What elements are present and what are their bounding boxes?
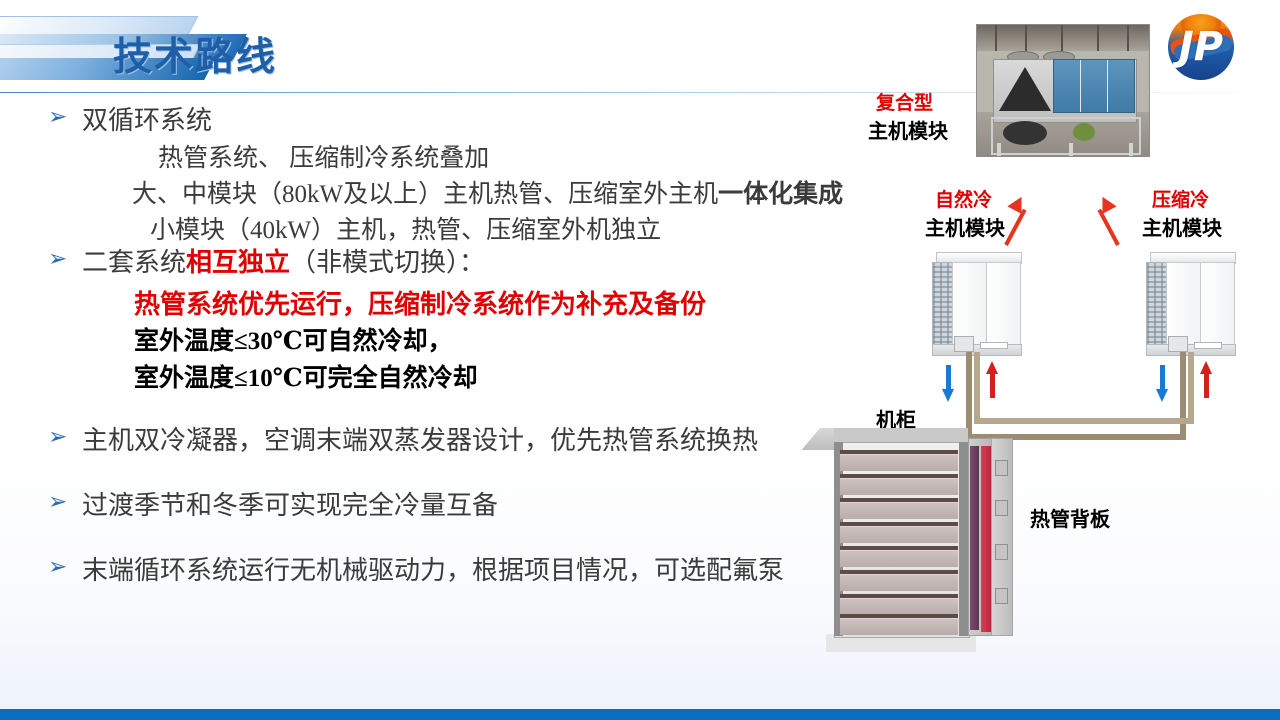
bullet-1-line-2-emphasis: 一体化集成 (718, 181, 843, 208)
bullet-arrow-icon: ➢ (48, 556, 82, 579)
bullet-item-4: ➢ 过渡季节和冬季可实现完全冷量互备 (48, 491, 498, 521)
bullet-4-head: 过渡季节和冬季可实现完全冷量互备 (82, 491, 498, 521)
bullet-1-head: 双循环系统 (82, 106, 212, 136)
bullet-2-line-3: 室外温度≤10℃可完全自然冷却 (134, 358, 478, 394)
label-composite-black: 主机模块 (868, 115, 948, 144)
bullet-item-2: ➢ 二套系统相互独立（非模式切换）： (48, 248, 485, 278)
label-free-cooling-black: 主机模块 (925, 212, 1005, 241)
heatpipe-panel-purple (970, 446, 979, 630)
return-arrow-right-head (1200, 361, 1212, 374)
bullet-5-head: 末端循环系统运行无机械驱动力，根据项目情况，可选配氟泵 (82, 556, 784, 586)
heatpipe-panel-red (981, 446, 991, 632)
pipe-left-a (966, 352, 972, 440)
bullet-1-line-3: 小模块（40kW）主机，热管、压缩室外机独立 (150, 210, 661, 246)
return-arrow-left-head (986, 361, 998, 374)
page-title: 技术路线 (113, 26, 277, 82)
composite-chiller-photo (976, 24, 1150, 157)
link-arrow-right-stem (1097, 209, 1119, 246)
pipe-left-b (974, 352, 980, 424)
bullet-arrow-icon: ➢ (48, 426, 82, 449)
supply-arrow-right-stem (1160, 365, 1165, 391)
company-logo-icon: JP (1168, 14, 1234, 80)
server-cabinet (820, 428, 1010, 658)
link-arrow-left-stem (1004, 209, 1026, 246)
return-arrow-left-stem (990, 372, 995, 398)
bullet-2-head: 二套系统相互独立（非模式切换）： (82, 248, 485, 278)
pipe-right-a (1180, 352, 1186, 440)
logo-text: JP (1168, 14, 1234, 80)
outdoor-unit-free-cooling (932, 252, 1020, 356)
bullet-2-head-prefix: 二套系统 (82, 248, 186, 277)
supply-arrow-left-head (942, 389, 954, 402)
bullet-2-head-suffix: （非模式切换）： (290, 248, 485, 277)
label-heatpipe-backplate: 热管背板 (1030, 503, 1110, 532)
bullet-2-head-emphasis: 相互独立 (186, 248, 290, 277)
bullet-2-line-2: 室外温度≤30℃可自然冷却， (134, 321, 453, 357)
bullet-item-3: ➢ 主机双冷凝器，空调末端双蒸发器设计，优先热管系统换热 (48, 426, 758, 456)
label-compression-red: 压缩冷 (1152, 185, 1209, 212)
supply-arrow-right-head (1156, 389, 1168, 402)
outdoor-unit-compression (1146, 252, 1234, 356)
pipe-horizontal-upper (980, 418, 1190, 424)
bullet-1-line-2: 大、中模块（80kW及以上）主机热管、压缩室外主机一体化集成 (132, 174, 843, 210)
bullet-3-head: 主机双冷凝器，空调末端双蒸发器设计，优先热管系统换热 (82, 426, 758, 456)
bullet-arrow-icon: ➢ (48, 491, 82, 514)
bullet-arrow-icon: ➢ (48, 248, 82, 271)
bullet-item-1: ➢ 双循环系统 (48, 106, 212, 136)
label-composite-red: 复合型 (876, 88, 933, 115)
bullet-arrow-icon: ➢ (48, 106, 82, 129)
label-compression-black: 主机模块 (1142, 212, 1222, 241)
content-body: ➢ 双循环系统 热管系统、 压缩制冷系统叠加 大、中模块（80kW及以上）主机热… (0, 96, 860, 656)
bullet-1-line-1: 热管系统、 压缩制冷系统叠加 (158, 138, 489, 174)
footer-bar (0, 709, 1280, 720)
return-arrow-right-stem (1204, 372, 1209, 398)
pipe-right-b (1188, 352, 1194, 424)
supply-arrow-left-stem (946, 365, 951, 391)
bullet-item-5: ➢ 末端循环系统运行无机械驱动力，根据项目情况，可选配氟泵 (48, 556, 784, 586)
label-free-cooling-red: 自然冷 (935, 185, 992, 212)
bullet-2-line-1: 热管系统优先运行，压缩制冷系统作为补充及备份 (134, 284, 706, 321)
bullet-1-line-2-text: 大、中模块（80kW及以上）主机热管、压缩室外主机 (132, 181, 718, 208)
